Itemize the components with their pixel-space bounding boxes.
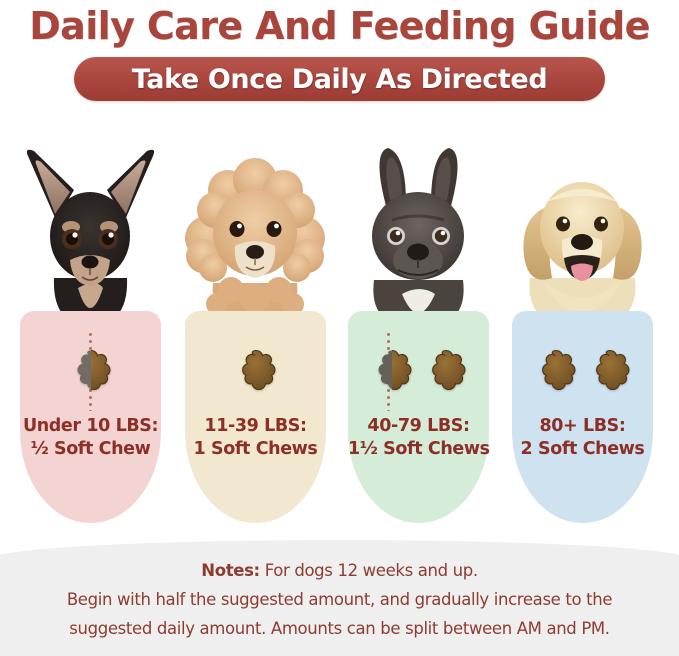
soft-chew-half — [68, 347, 114, 393]
dosage-columns: Under 10 LBS: ½ Soft Chew — [0, 128, 679, 530]
soft-chew-whole — [233, 347, 279, 393]
chew-illustration-half — [20, 327, 161, 413]
notes-label: Notes: — [201, 561, 260, 580]
dosage-label-80-plus-lbs: 80+ LBS: 2 Soft Chews — [512, 415, 653, 461]
soft-chew-whole — [533, 347, 579, 393]
french-bulldog-illustration — [336, 128, 501, 328]
weight-range-label: 80+ LBS: — [539, 416, 625, 436]
page-title: Daily Care And Feeding Guide — [0, 4, 679, 48]
golden-retriever-illustration — [500, 128, 665, 328]
chihuahua-illustration — [8, 128, 173, 328]
poodle-photo — [173, 128, 338, 328]
dose-amount-label: 1½ Soft Chews — [348, 438, 489, 461]
chew-illustration-one — [185, 327, 326, 413]
soft-chew-half — [369, 347, 415, 393]
soft-chew-whole — [587, 347, 633, 393]
dose-amount-label: ½ Soft Chew — [20, 438, 161, 461]
dosage-column-80-plus-lbs: 80+ LBS: 2 Soft Chews — [500, 128, 665, 530]
chihuahua-photo — [8, 128, 173, 328]
dosage-card-under-10-lbs: Under 10 LBS: ½ Soft Chew — [20, 311, 161, 523]
dosage-label-40-79-lbs: 40-79 LBS: 1½ Soft Chews — [348, 415, 489, 461]
directions-banner-label: Take Once Daily As Directed — [132, 64, 548, 95]
weight-range-label: 11-39 LBS: — [204, 416, 306, 436]
dosage-label-under-10-lbs: Under 10 LBS: ½ Soft Chew — [20, 415, 161, 461]
golden-retriever-photo — [500, 128, 665, 328]
weight-range-label: 40-79 LBS: — [367, 416, 469, 436]
dose-amount-label: 2 Soft Chews — [512, 438, 653, 461]
notes-line-3: suggested daily amount. Amounts can be s… — [28, 614, 651, 643]
directions-banner: Take Once Daily As Directed — [74, 57, 605, 101]
chew-illustration-one-and-half — [348, 327, 489, 413]
dosage-card-80-plus-lbs: 80+ LBS: 2 Soft Chews — [512, 311, 653, 523]
chew-illustration-two — [512, 327, 653, 413]
dosage-card-11-39-lbs: 11-39 LBS: 1 Soft Chews — [185, 311, 326, 523]
dosage-card-40-79-lbs: 40-79 LBS: 1½ Soft Chews — [348, 311, 489, 523]
notes-line-1-rest: For dogs 12 weeks and up. — [260, 561, 478, 580]
dosage-label-11-39-lbs: 11-39 LBS: 1 Soft Chews — [185, 415, 326, 461]
poodle-illustration — [173, 128, 338, 328]
dosage-column-40-79-lbs: 40-79 LBS: 1½ Soft Chews — [336, 128, 501, 530]
dose-amount-label: 1 Soft Chews — [185, 438, 326, 461]
dosage-column-under-10-lbs: Under 10 LBS: ½ Soft Chew — [8, 128, 173, 530]
feeding-guide-infographic: Daily Care And Feeding Guide Take Once D… — [0, 0, 679, 656]
notes-panel: Notes: For dogs 12 weeks and up. Begin w… — [28, 556, 651, 643]
soft-chew-whole — [423, 347, 469, 393]
weight-range-label: Under 10 LBS: — [23, 416, 158, 436]
french-bulldog-photo — [336, 128, 501, 328]
notes-line-2: Begin with half the suggested amount, an… — [28, 585, 651, 614]
notes-line-1: Notes: For dogs 12 weeks and up. — [28, 556, 651, 585]
dosage-column-11-39-lbs: 11-39 LBS: 1 Soft Chews — [173, 128, 338, 530]
